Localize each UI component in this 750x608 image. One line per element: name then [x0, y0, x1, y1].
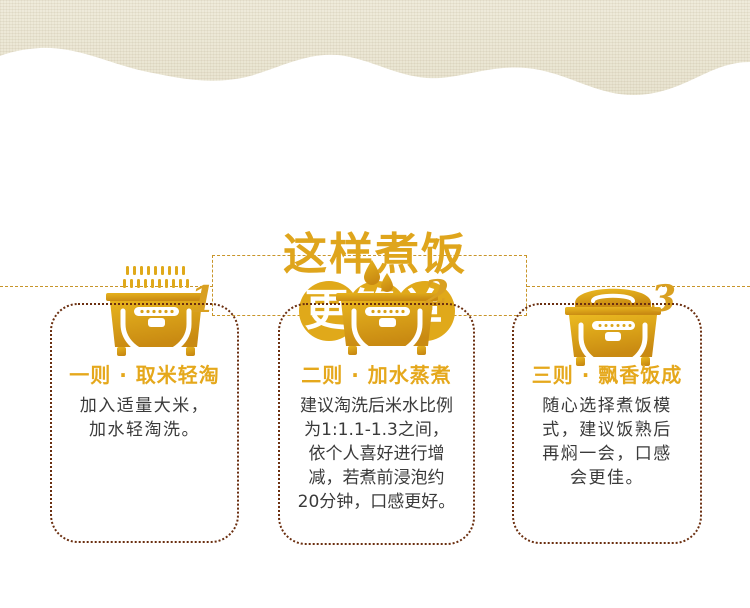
step-card-3-line-3: 再焖一会，口感 — [522, 442, 692, 466]
step-card-2-text: 建议淘洗后米水比例 为1:1.1-1.3之间， 依个人喜好进行增 减，若煮前浸泡… — [288, 394, 465, 514]
step-card-1-body: 一则 · 取米轻淘 加入适量大米， 加水轻淘洗。 — [52, 363, 237, 442]
step-card-1-line-2: 加水轻淘洗。 — [60, 418, 229, 442]
step-card-1[interactable]: 一则 · 取米轻淘 加入适量大米， 加水轻淘洗。 — [50, 303, 239, 543]
step-card-1-line-1: 加入适量大米， — [60, 394, 229, 418]
step-card-2-line-5: 20分钟，口感更好。 — [288, 490, 465, 514]
step-card-3-line-4: 会更佳。 — [522, 466, 692, 490]
step-card-2-title: 二则 · 加水蒸煮 — [288, 363, 465, 387]
step-card-3[interactable]: 三则 · 飘香饭成 随心选择煮饭模 式，建议饭熟后 再焖一会，口感 会更佳。 — [512, 303, 702, 544]
step-card-3-title: 三则 · 飘香饭成 — [522, 363, 692, 387]
step-card-2-line-3: 依个人喜好进行增 — [288, 442, 465, 466]
step-card-2-line-2: 为1:1.1-1.3之间， — [288, 418, 465, 442]
step-card-2[interactable]: 二则 · 加水蒸煮 建议淘洗后米水比例 为1:1.1-1.3之间， 依个人喜好进… — [278, 303, 475, 545]
step-card-3-text: 随心选择煮饭模 式，建议饭熟后 再焖一会，口感 会更佳。 — [522, 394, 692, 490]
steps-container: 1 — [0, 0, 750, 608]
step-card-2-body: 二则 · 加水蒸煮 建议淘洗后米水比例 为1:1.1-1.3之间， 依个人喜好进… — [280, 363, 473, 514]
step-card-2-line-1: 建议淘洗后米水比例 — [288, 394, 465, 418]
water-drop-small — [381, 273, 393, 292]
step-card-1-text: 加入适量大米， 加水轻淘洗。 — [60, 394, 229, 442]
step-card-1-title: 一则 · 取米轻淘 — [60, 363, 229, 387]
water-drop-large — [364, 260, 380, 285]
step-card-3-body: 三则 · 飘香饭成 随心选择煮饭模 式，建议饭熟后 再焖一会，口感 会更佳。 — [514, 363, 700, 490]
step-card-2-line-4: 减，若煮前浸泡约 — [288, 466, 465, 490]
step-card-3-line-2: 式，建议饭熟后 — [522, 418, 692, 442]
step-card-3-line-1: 随心选择煮饭模 — [522, 394, 692, 418]
